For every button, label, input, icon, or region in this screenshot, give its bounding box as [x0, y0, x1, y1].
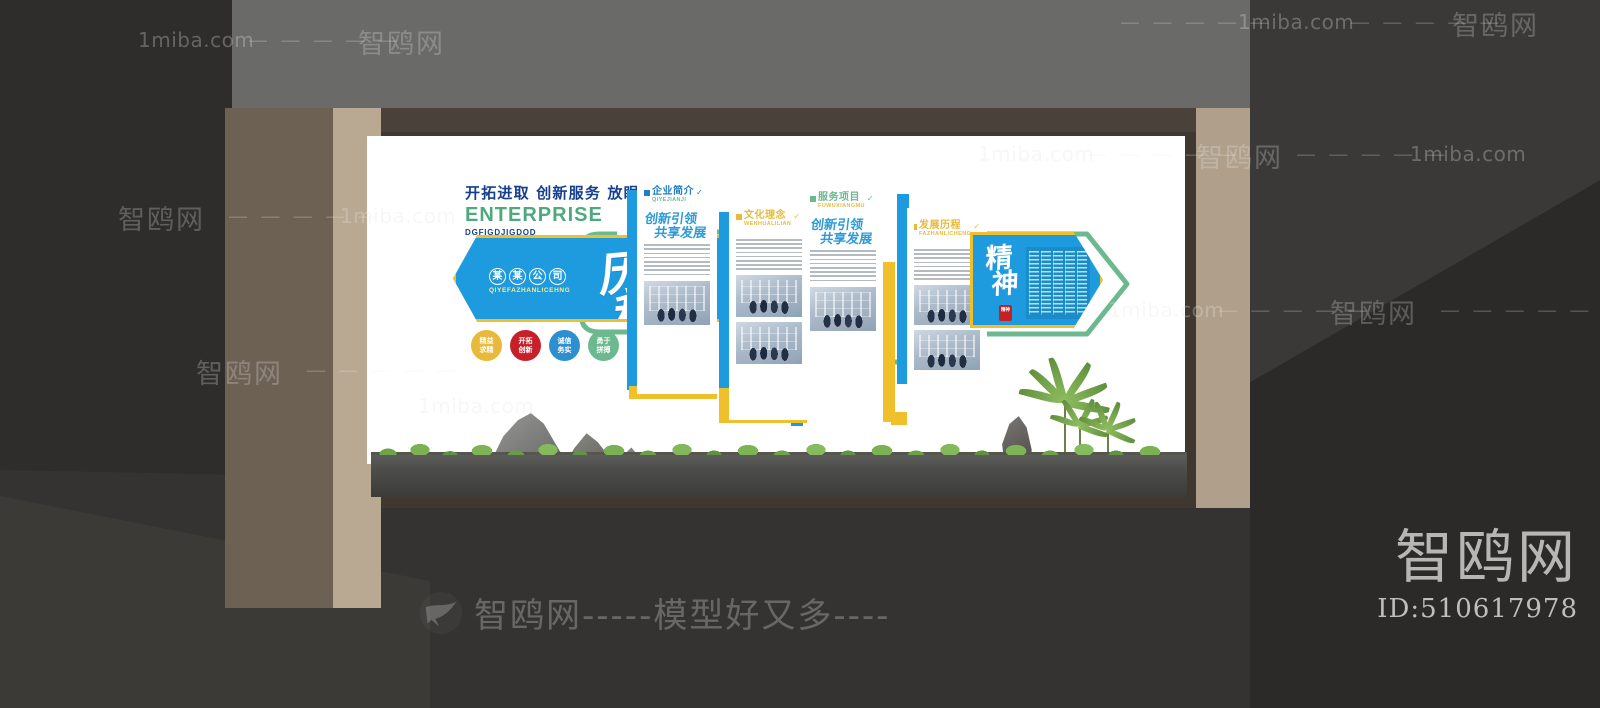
panel-body-text [810, 250, 876, 281]
company-name-circles: 某 某 公 司 [489, 268, 566, 285]
spirit-text-column [1053, 251, 1063, 315]
circle-line-2: 务实 [558, 346, 572, 355]
check-icon: ✓ [793, 212, 800, 221]
panel-title-cn: 服务项目 [818, 188, 865, 203]
info-panel-company-profile[interactable]: 企业简介 QIYEJIANJI ✓ 创新引领 共享发展 [637, 174, 717, 394]
circle-line-2: 求精 [480, 346, 494, 355]
info-panel-service-projects[interactable]: 服务项目 FUWUXIANGMU ✓ 创新引领 共享发展 [803, 180, 883, 402]
circle-line-2: 创新 [519, 346, 533, 355]
spirit-char-2: 神 [991, 271, 1019, 299]
panel-title-py: WENHUALILIAN [744, 221, 791, 227]
panel-photo [810, 287, 876, 331]
panel-title-cn: 发展历程 [919, 216, 971, 231]
value-circle: 诚信 务实 [549, 330, 580, 361]
value-circle-group: 精益 求精 开拓 创新 诚信 务实 勇于 拼搏 [471, 330, 619, 361]
panel-body-text [736, 239, 802, 270]
planter-base [371, 455, 1187, 497]
panel-title-cn: 企业简介 [652, 182, 694, 197]
panel-slogan: 创新引领 共享发展 [642, 213, 711, 240]
panel-slogan: 创新引领 共享发展 [808, 219, 877, 246]
spirit-vertical-text-block [1026, 247, 1090, 319]
check-icon: ✓ [973, 222, 980, 231]
slogan-line-1: 创新引领 [810, 219, 878, 233]
spirit-text-column [1077, 251, 1087, 315]
square-bullet-icon [810, 196, 816, 202]
bottom-brand-text: 智鸥网-----模型好又多---- [474, 588, 890, 637]
spirit-text-column [1065, 251, 1075, 315]
pilaster-left-dark [225, 108, 333, 608]
check-icon: ✓ [867, 194, 874, 203]
spirit-text-column [1029, 251, 1039, 315]
company-char: 公 [529, 268, 546, 285]
corner-brand-name: 智鸥网 [1377, 528, 1578, 586]
square-bullet-icon [736, 214, 742, 220]
circle-line-1: 开拓 [519, 337, 533, 346]
circle-line-1: 精益 [480, 337, 494, 346]
bird-logo-icon [418, 590, 464, 636]
panel-title-cn: 文化理念 [744, 206, 791, 221]
value-circle: 勇于 拼搏 [588, 330, 619, 361]
spirit-seal: 精神 [999, 305, 1012, 321]
panel-title-py: QIYEJIANJI [652, 197, 694, 203]
slogan-line-2: 共享发展 [819, 233, 876, 247]
panel-photo [736, 322, 802, 364]
panel-body-text [644, 244, 710, 275]
circle-line-2: 拼搏 [597, 346, 611, 355]
panel-title-row: 企业简介 QIYEJIANJI ✓ [644, 182, 710, 203]
circle-line-1: 勇于 [597, 337, 611, 346]
spirit-calligraphy: 精 神 [984, 245, 1020, 301]
company-char: 某 [509, 268, 526, 285]
value-circle: 精益 求精 [471, 330, 502, 361]
corner-model-id: ID:510617978 [1377, 594, 1578, 624]
panel-photo [644, 281, 710, 325]
square-bullet-icon [644, 190, 650, 196]
value-circle: 开拓 创新 [510, 330, 541, 361]
slogan-line-1: 创新引领 [644, 213, 712, 227]
circle-line-1: 诚信 [558, 337, 572, 346]
accent-bar-yellow [883, 262, 895, 422]
slogan-line-2: 共享发展 [653, 227, 710, 241]
info-panel-culture-concept[interactable]: 文化理念 WENHUALILIAN ✓ [729, 198, 809, 420]
square-bullet-icon [914, 224, 917, 230]
pilaster-right-tan [1196, 108, 1250, 508]
corner-brand-block: 智鸥网 ID:510617978 [1377, 528, 1578, 624]
bottom-brand-strip: 智鸥网-----模型好又多---- [418, 588, 890, 637]
panel-title-row: 服务项目 FUWUXIANGMU ✓ [810, 188, 876, 209]
company-pinyin: QIYEFAZHANLICEHNG [489, 287, 570, 294]
spirit-text-column [1041, 251, 1051, 315]
panel-title-py: FAZHANLICHENG [919, 231, 971, 237]
panel-photo [736, 275, 802, 317]
company-char: 司 [549, 268, 566, 285]
screenshot-canvas: 开拓进取 创新服务 放眼未来 ENTERPRISE DGFIGDJIGDOD 某… [0, 0, 1600, 708]
panel-title-py: FUWUXIANGMU [818, 203, 865, 209]
panel-title-row: 文化理念 WENHUALILIAN ✓ [736, 206, 802, 227]
panel-photo [914, 330, 980, 370]
check-icon: ✓ [696, 188, 703, 197]
company-char: 某 [489, 268, 506, 285]
